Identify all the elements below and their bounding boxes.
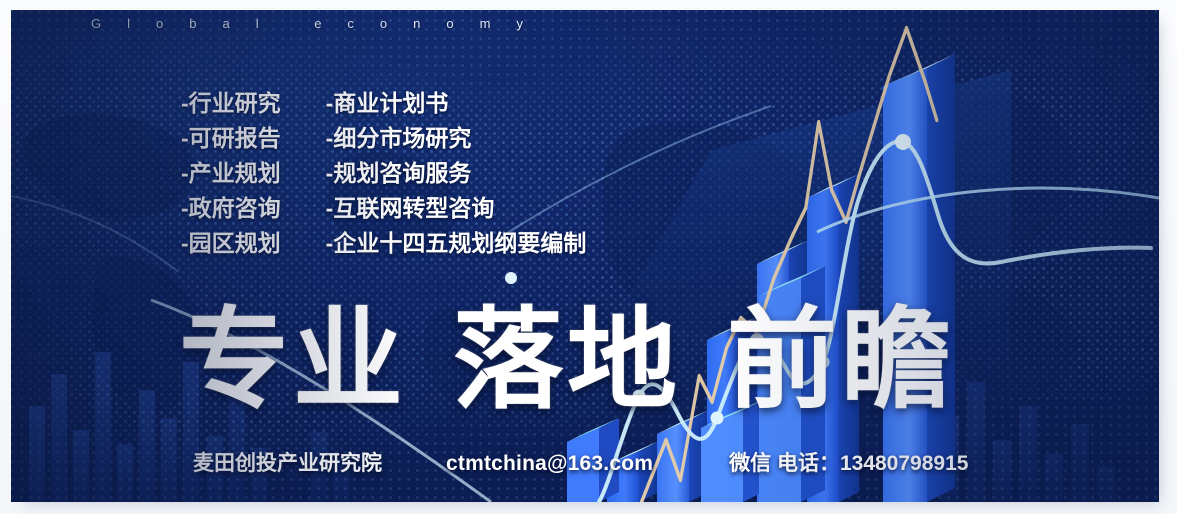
list-item: -企业十四五规划纲要编制	[326, 228, 587, 259]
page-title: 专业 落地 前瞻	[179, 306, 955, 416]
service-column-2: -商业计划书 -细分市场研究 -规划咨询服务 -互联网转型咨询 -企业十四五规划…	[326, 88, 587, 259]
kicker-text: Global economy	[91, 16, 1081, 31]
list-item: -可研报告	[181, 123, 281, 154]
list-item: -规划咨询服务	[326, 158, 587, 189]
bar-6	[883, 54, 955, 502]
contact-text: 微信 电话：13480798915	[729, 451, 968, 477]
data-point	[505, 272, 517, 284]
org-name: 麦田创投产业研究院	[193, 451, 382, 477]
list-item: -互联网转型咨询	[326, 193, 587, 224]
email-text: ctmtchina@163.com	[446, 451, 653, 477]
list-item: -政府咨询	[181, 193, 281, 224]
service-lists: -行业研究 -可研报告 -产业规划 -政府咨询 -园区规划 -商业计划书 -细分…	[181, 88, 586, 259]
service-column-1: -行业研究 -可研报告 -产业规划 -政府咨询 -园区规划	[181, 88, 281, 259]
headline-word-3: 前瞻	[727, 306, 955, 416]
screenshot-root: Global economy -行业研究 -可研报告 -产业规划 -政府咨询 -…	[0, 0, 1177, 514]
list-item: -行业研究	[181, 88, 281, 119]
contact-bar: 麦田创投产业研究院 ctmtchina@163.com 微信 电话：134807…	[193, 451, 968, 477]
list-item: -商业计划书	[326, 88, 587, 119]
headline-word-1: 专业	[179, 306, 407, 416]
list-item: -园区规划	[181, 228, 281, 259]
list-item: -产业规划	[181, 158, 281, 189]
promo-banner: Global economy -行业研究 -可研报告 -产业规划 -政府咨询 -…	[11, 10, 1159, 502]
data-point	[895, 134, 911, 150]
arc-far-left	[11, 196, 179, 272]
headline-word-2: 落地	[453, 306, 681, 416]
list-item: -细分市场研究	[326, 123, 587, 154]
